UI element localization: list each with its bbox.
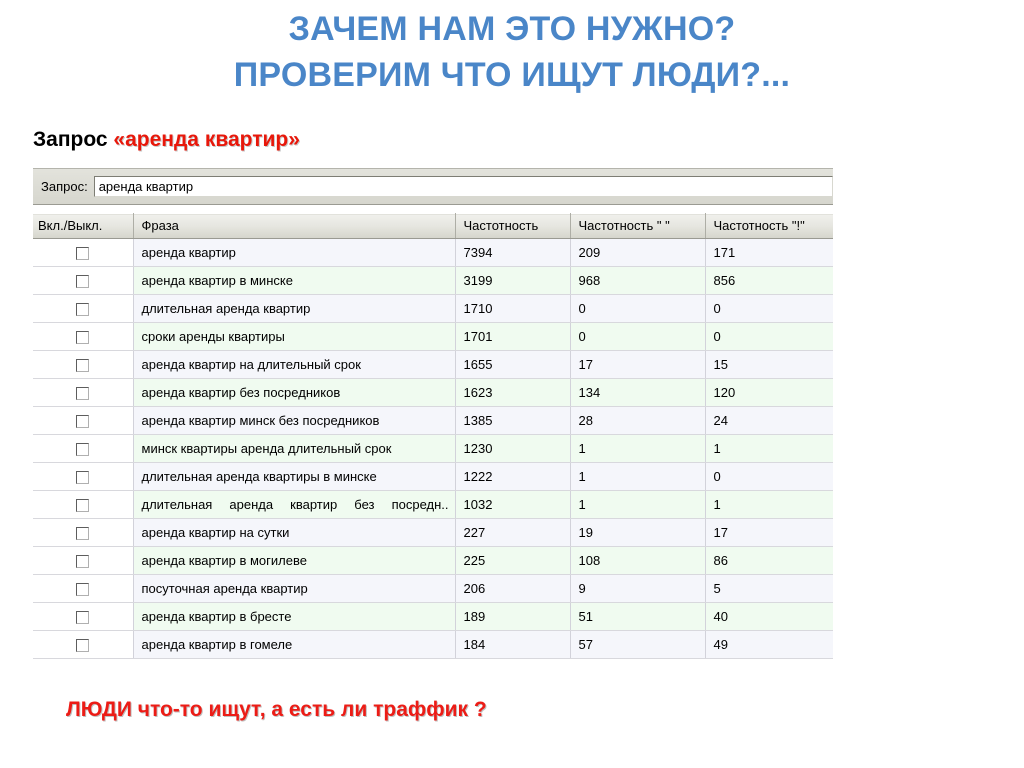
- cell-frequency: 1230: [455, 435, 570, 463]
- subtitle-prefix: Запрос: [33, 128, 108, 151]
- row-toggle-cell[interactable]: [33, 603, 133, 631]
- cell-frequency: 3199: [455, 267, 570, 295]
- cell-phrase: длительная аренда квартиры в минске: [133, 463, 455, 491]
- table-row[interactable]: минск квартиры аренда длительный срок123…: [33, 435, 833, 463]
- cell-frequency: 225: [455, 547, 570, 575]
- checkbox-icon[interactable]: [76, 387, 89, 400]
- query-input[interactable]: аренда квартир: [94, 176, 833, 197]
- cell-frequency-exact: 86: [705, 547, 833, 575]
- slide-title-line-1: ЗАЧЕМ НАМ ЭТО НУЖНО?: [0, 6, 1024, 52]
- table-row[interactable]: аренда квартир на сутки2271917: [33, 519, 833, 547]
- row-toggle-cell[interactable]: [33, 575, 133, 603]
- cell-frequency-quote: 19: [570, 519, 705, 547]
- cell-phrase: аренда квартир без посредников: [133, 379, 455, 407]
- table-row[interactable]: аренда квартир в гомеле1845749: [33, 631, 833, 659]
- table-row[interactable]: аренда квартир в бресте1895140: [33, 603, 833, 631]
- cell-frequency-exact: 40: [705, 603, 833, 631]
- row-toggle-cell[interactable]: [33, 491, 133, 519]
- checkbox-icon[interactable]: [76, 247, 89, 260]
- row-toggle-cell[interactable]: [33, 239, 133, 267]
- cell-frequency-quote: 1: [570, 491, 705, 519]
- table-row[interactable]: сроки аренды квартиры170100: [33, 323, 833, 351]
- slide-caption: ЛЮДИ что-то ищут, а есть ли траффик ?: [66, 698, 487, 722]
- table-row[interactable]: аренда квартир минск без посредников1385…: [33, 407, 833, 435]
- column-header-frequency-quote[interactable]: Частотность " ": [570, 214, 705, 239]
- table-row[interactable]: аренда квартир без посредников1623134120: [33, 379, 833, 407]
- cell-frequency-quote: 209: [570, 239, 705, 267]
- checkbox-icon[interactable]: [76, 275, 89, 288]
- row-toggle-cell[interactable]: [33, 631, 133, 659]
- table-row[interactable]: длительная аренда квартиры в минске12221…: [33, 463, 833, 491]
- toolbar-gap: [33, 205, 833, 213]
- cell-frequency: 206: [455, 575, 570, 603]
- row-toggle-cell[interactable]: [33, 435, 133, 463]
- cell-phrase: длительная аренда квартир без посредн..: [133, 491, 455, 519]
- row-toggle-cell[interactable]: [33, 323, 133, 351]
- checkbox-icon[interactable]: [76, 639, 89, 652]
- checkbox-icon[interactable]: [76, 499, 89, 512]
- column-header-frequency-exact[interactable]: Частотность "!": [705, 214, 833, 239]
- query-label: Запрос:: [41, 179, 88, 194]
- cell-frequency-exact: 5: [705, 575, 833, 603]
- row-toggle-cell[interactable]: [33, 547, 133, 575]
- checkbox-icon[interactable]: [76, 583, 89, 596]
- table-row[interactable]: аренда квартир7394209171: [33, 239, 833, 267]
- cell-phrase: аренда квартир в могилеве: [133, 547, 455, 575]
- cell-frequency-quote: 108: [570, 547, 705, 575]
- cell-frequency-exact: 856: [705, 267, 833, 295]
- column-header-toggle[interactable]: Вкл./Выкл.: [33, 214, 133, 239]
- cell-frequency-quote: 57: [570, 631, 705, 659]
- query-input-value: аренда квартир: [99, 179, 193, 194]
- cell-frequency: 7394: [455, 239, 570, 267]
- cell-frequency-exact: 49: [705, 631, 833, 659]
- cell-frequency: 227: [455, 519, 570, 547]
- cell-phrase: минск квартиры аренда длительный срок: [133, 435, 455, 463]
- checkbox-icon[interactable]: [76, 471, 89, 484]
- checkbox-icon[interactable]: [76, 443, 89, 456]
- cell-frequency-exact: 0: [705, 463, 833, 491]
- cell-frequency-exact: 24: [705, 407, 833, 435]
- cell-frequency: 1222: [455, 463, 570, 491]
- cell-frequency-exact: 15: [705, 351, 833, 379]
- table-row[interactable]: аренда квартир в могилеве22510886: [33, 547, 833, 575]
- cell-frequency: 1710: [455, 295, 570, 323]
- row-toggle-cell[interactable]: [33, 463, 133, 491]
- cell-frequency-exact: 0: [705, 323, 833, 351]
- cell-frequency: 1655: [455, 351, 570, 379]
- cell-phrase: сроки аренды квартиры: [133, 323, 455, 351]
- wordstat-window: Запрос: аренда квартир Вкл./Выкл. Фраза …: [33, 168, 833, 668]
- cell-frequency-quote: 28: [570, 407, 705, 435]
- cell-phrase: аренда квартир в минске: [133, 267, 455, 295]
- slide-title: ЗАЧЕМ НАМ ЭТО НУЖНО? ПРОВЕРИМ ЧТО ИЩУТ Л…: [0, 6, 1024, 98]
- cell-phrase: аренда квартир в гомеле: [133, 631, 455, 659]
- table-row[interactable]: посуточная аренда квартир20695: [33, 575, 833, 603]
- cell-frequency-quote: 968: [570, 267, 705, 295]
- cell-frequency-quote: 0: [570, 323, 705, 351]
- cell-phrase: посуточная аренда квартир: [133, 575, 455, 603]
- subtitle-query: «аренда квартир»: [113, 128, 299, 151]
- cell-phrase: аренда квартир минск без посредников: [133, 407, 455, 435]
- checkbox-icon[interactable]: [76, 527, 89, 540]
- cell-frequency: 1701: [455, 323, 570, 351]
- checkbox-icon[interactable]: [76, 331, 89, 344]
- cell-frequency-quote: 17: [570, 351, 705, 379]
- row-toggle-cell[interactable]: [33, 295, 133, 323]
- cell-frequency-quote: 134: [570, 379, 705, 407]
- checkbox-icon[interactable]: [76, 415, 89, 428]
- cell-frequency-exact: 1: [705, 491, 833, 519]
- cell-frequency-quote: 51: [570, 603, 705, 631]
- row-toggle-cell[interactable]: [33, 519, 133, 547]
- cell-phrase: аренда квартир: [133, 239, 455, 267]
- table-row[interactable]: длительная аренда квартир171000: [33, 295, 833, 323]
- cell-frequency-exact: 17: [705, 519, 833, 547]
- cell-frequency-exact: 0: [705, 295, 833, 323]
- table-row[interactable]: длительная аренда квартир без посредн..1…: [33, 491, 833, 519]
- cell-frequency-exact: 1: [705, 435, 833, 463]
- cell-frequency: 184: [455, 631, 570, 659]
- row-toggle-cell[interactable]: [33, 379, 133, 407]
- cell-frequency-quote: 1: [570, 463, 705, 491]
- cell-frequency-exact: 171: [705, 239, 833, 267]
- query-toolbar: Запрос: аренда квартир: [33, 169, 833, 205]
- cell-frequency-quote: 0: [570, 295, 705, 323]
- keywords-table-body: аренда квартир7394209171аренда квартир в…: [33, 239, 833, 659]
- cell-frequency-quote: 9: [570, 575, 705, 603]
- cell-frequency-quote: 1: [570, 435, 705, 463]
- row-toggle-cell[interactable]: [33, 407, 133, 435]
- cell-phrase: длительная аренда квартир: [133, 295, 455, 323]
- cell-phrase: аренда квартир в бресте: [133, 603, 455, 631]
- table-row[interactable]: аренда квартир в минске3199968856: [33, 267, 833, 295]
- cell-frequency: 1032: [455, 491, 570, 519]
- cell-frequency-exact: 120: [705, 379, 833, 407]
- row-toggle-cell[interactable]: [33, 351, 133, 379]
- checkbox-icon[interactable]: [76, 611, 89, 624]
- checkbox-icon[interactable]: [76, 303, 89, 316]
- keywords-table: Вкл./Выкл. Фраза Частотность Частотность…: [33, 213, 833, 659]
- table-header-row: Вкл./Выкл. Фраза Частотность Частотность…: [33, 214, 833, 239]
- cell-phrase: аренда квартир на длительный срок: [133, 351, 455, 379]
- column-header-phrase[interactable]: Фраза: [133, 214, 455, 239]
- column-header-frequency[interactable]: Частотность: [455, 214, 570, 239]
- slide-subtitle: Запрос «аренда квартир»: [33, 128, 300, 152]
- table-row[interactable]: аренда квартир на длительный срок1655171…: [33, 351, 833, 379]
- checkbox-icon[interactable]: [76, 359, 89, 372]
- slide-title-line-2: ПРОВЕРИМ ЧТО ИЩУТ ЛЮДИ?...: [0, 52, 1024, 98]
- checkbox-icon[interactable]: [76, 555, 89, 568]
- cell-frequency: 1385: [455, 407, 570, 435]
- cell-frequency: 1623: [455, 379, 570, 407]
- cell-frequency: 189: [455, 603, 570, 631]
- row-toggle-cell[interactable]: [33, 267, 133, 295]
- cell-phrase: аренда квартир на сутки: [133, 519, 455, 547]
